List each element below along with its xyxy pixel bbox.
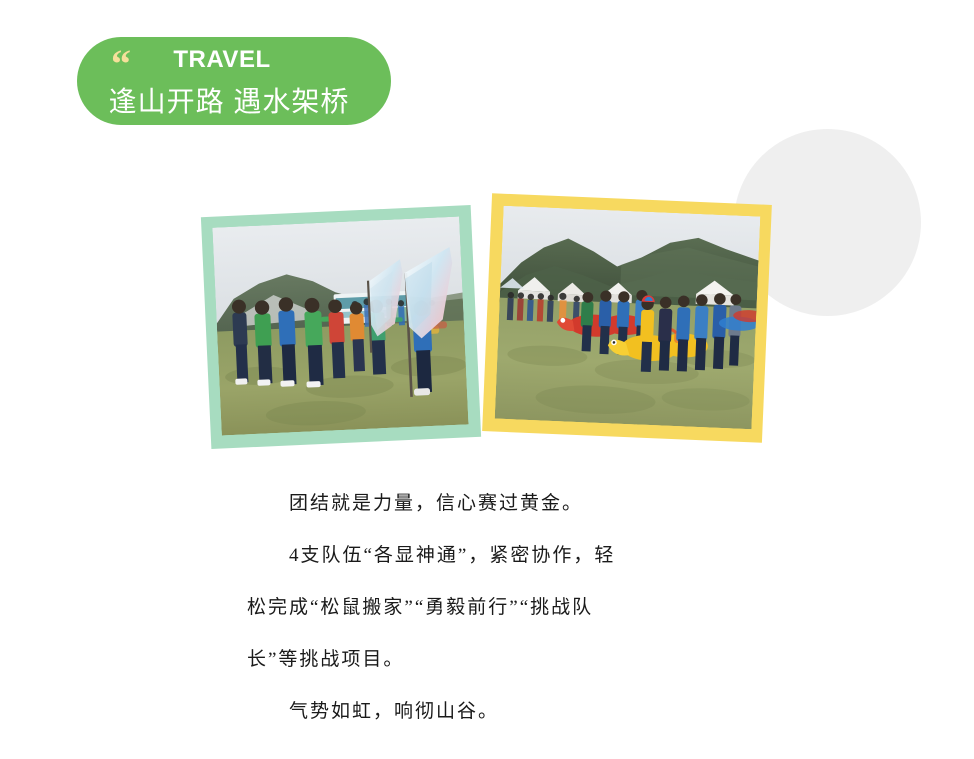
badge-title-cn: 逢山开路 遇水架桥 <box>77 80 381 120</box>
photo-inflatable-dragon-race <box>482 193 772 443</box>
body-paragraph: 气势如虹，响彻山谷。 <box>247 686 687 738</box>
badge-title-en: TRAVEL <box>77 46 367 74</box>
article-body: 团结就是力量，信心赛过黄金。 4支队伍“各显神通”，紧密协作，轻 松完成“松鼠搬… <box>247 478 687 738</box>
body-paragraph: 长”等挑战项目。 <box>247 634 687 686</box>
dragon-race-illustration <box>495 206 761 430</box>
flag-ceremony-illustration <box>212 217 468 436</box>
body-paragraph: 4支队伍“各显神通”，紧密协作，轻 <box>247 530 687 582</box>
body-paragraph: 团结就是力量，信心赛过黄金。 <box>247 478 687 530</box>
travel-article-page: “ TRAVEL 逢山开路 遇水架桥 <box>0 0 974 759</box>
photo-right-image <box>495 206 761 430</box>
photo-team-flag-ceremony <box>201 205 481 449</box>
body-paragraph: 松完成“松鼠搬家”“勇毅前行”“挑战队 <box>247 582 687 634</box>
travel-badge: “ TRAVEL 逢山开路 遇水架桥 <box>77 37 391 125</box>
photo-left-image <box>212 217 468 436</box>
